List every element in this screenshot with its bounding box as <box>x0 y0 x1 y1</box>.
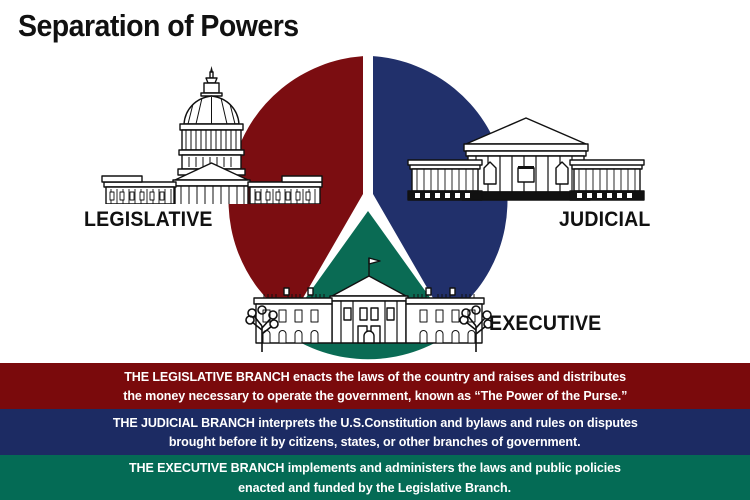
band-legislative: THE LEGISLATIVE BRANCH enacts the laws o… <box>0 363 750 409</box>
band-executive: THE EXECUTIVE BRANCH implements and admi… <box>0 455 750 500</box>
pie-diagram: LEGISLATIVE JUDICIAL EXECUTIVE <box>0 0 750 365</box>
capitol-building-icon <box>96 62 328 204</box>
supreme-court-building-icon <box>404 114 648 204</box>
slice-label-executive: EXECUTIVE <box>489 312 601 336</box>
separation-of-powers-infographic: Separation of Powers <box>0 0 750 500</box>
band-legislative-line1: THE LEGISLATIVE BRANCH enacts the laws o… <box>124 367 626 387</box>
band-executive-line1: THE EXECUTIVE BRANCH implements and admi… <box>129 458 621 478</box>
white-house-icon <box>238 256 500 352</box>
description-bands: THE LEGISLATIVE BRANCH enacts the laws o… <box>0 363 750 500</box>
band-judicial-line1: THE JUDICIAL BRANCH interprets the U.S.C… <box>113 413 638 433</box>
band-judicial-line2: brought before it by citizens, states, o… <box>169 432 581 452</box>
band-legislative-line2: the money necessary to operate the gover… <box>123 386 627 406</box>
slice-label-legislative: LEGISLATIVE <box>84 208 213 232</box>
slice-label-judicial: JUDICIAL <box>559 208 651 232</box>
band-judicial: THE JUDICIAL BRANCH interprets the U.S.C… <box>0 409 750 455</box>
band-executive-line2: enacted and funded by the Legislative Br… <box>239 478 512 498</box>
